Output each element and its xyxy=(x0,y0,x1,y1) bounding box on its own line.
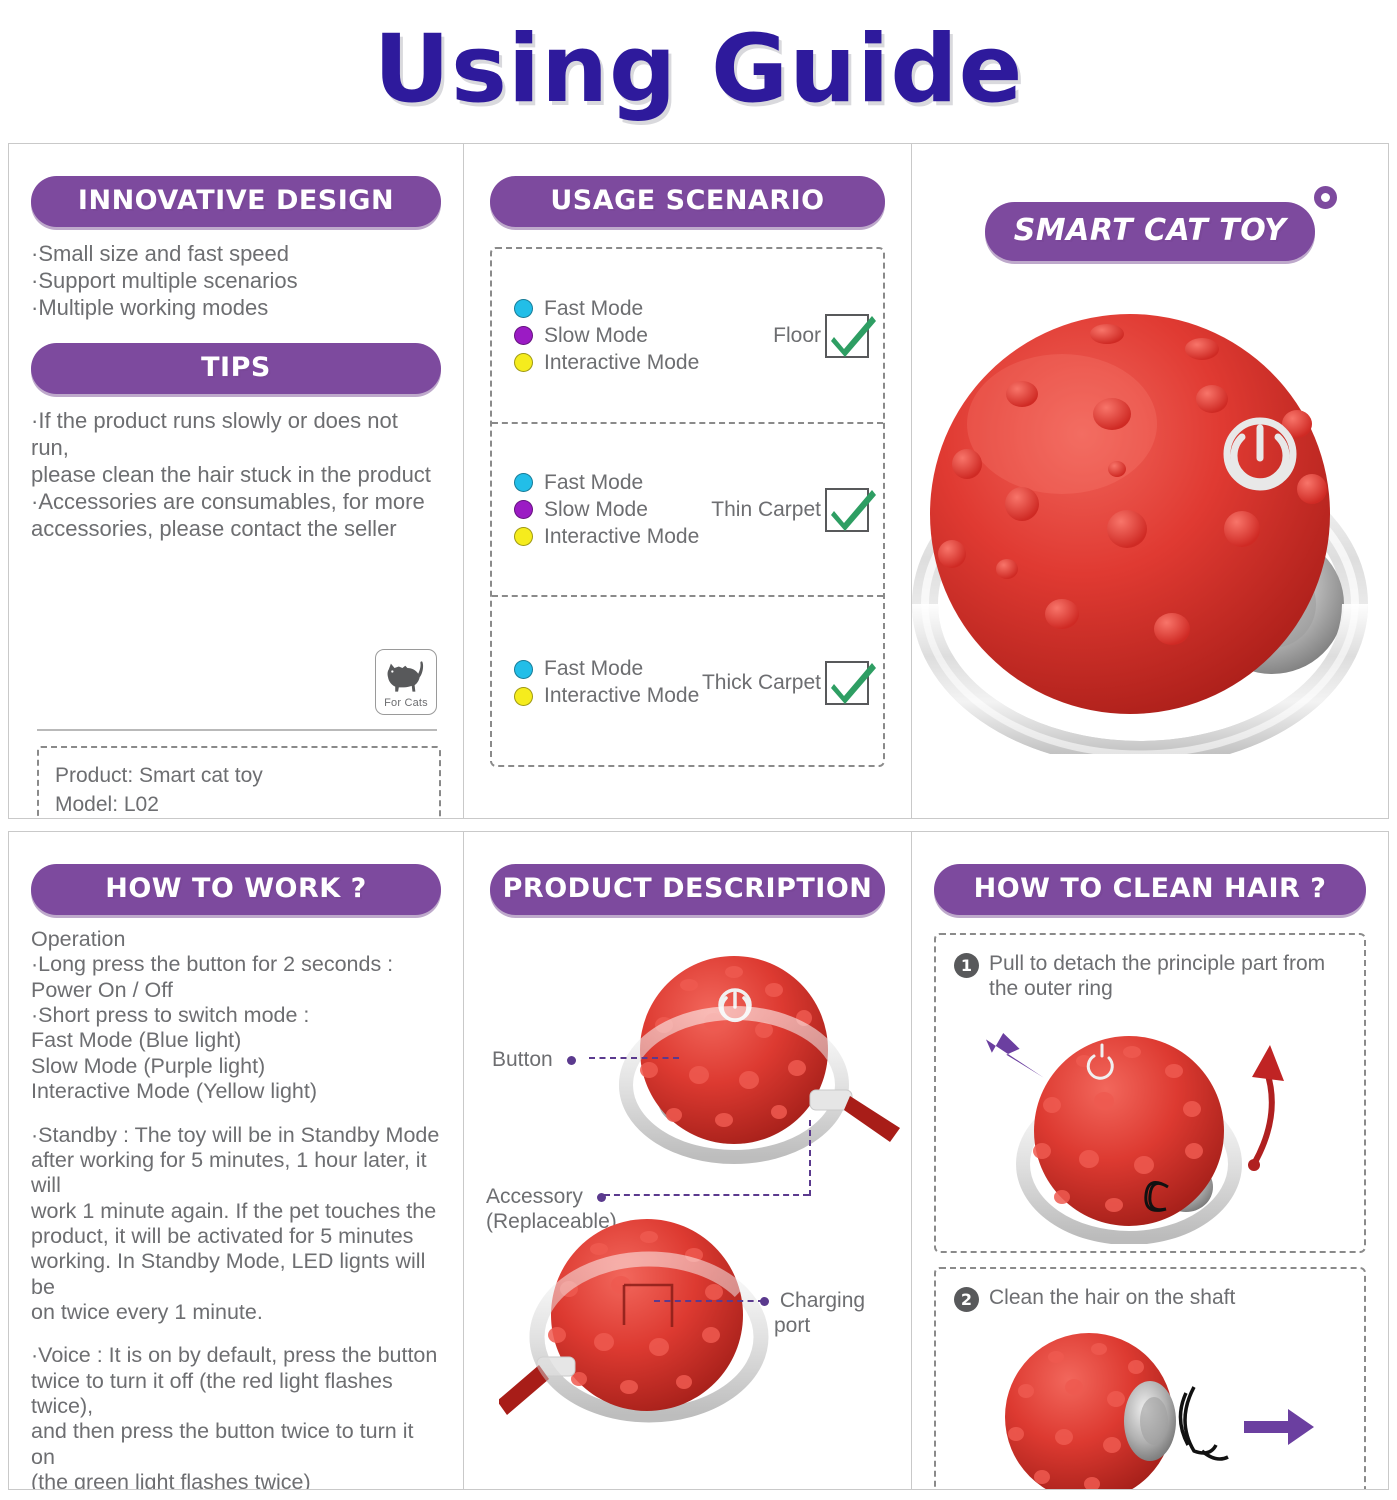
spec-box: Product: Smart cat toy Model: L02 Materi… xyxy=(37,746,441,818)
list-item: ·Short press to switch mode : xyxy=(31,1003,441,1028)
list-item: ·Multiple working modes xyxy=(31,295,441,322)
step-number: 2 xyxy=(954,1287,979,1312)
usage-scenario-heading: USAGE SCENARIO xyxy=(490,176,885,227)
leader-line xyxy=(589,1057,679,1059)
list-item: work 1 minute again. If the pet touches … xyxy=(31,1199,441,1224)
detach-illustration xyxy=(954,1019,1344,1244)
clean-step-2: 2 Clean the hair on the shaft xyxy=(934,1267,1366,1489)
how-to-clean-hair-heading: HOW TO CLEAN HAIR ? xyxy=(934,864,1366,915)
innovative-design-list: ·Small size and fast speed ·Support mult… xyxy=(31,241,441,321)
panel-innovative-design: INNOVATIVE DESIGN ·Small size and fast s… xyxy=(9,144,464,818)
step-header: 1 Pull to detach the principle part from… xyxy=(936,935,1364,1001)
interactive-mode-dot xyxy=(514,687,533,706)
brand-badge: SMART CAT TOY xyxy=(985,202,1315,261)
checkbox-thin-carpet[interactable] xyxy=(825,488,869,532)
leader-line xyxy=(809,1120,811,1196)
mode-item: Fast Mode xyxy=(514,656,699,683)
product-diagram-button-accessory xyxy=(614,950,912,1180)
step-text: Pull to detach the principle part from t… xyxy=(989,951,1346,1001)
callout-accessory-label: Accessory xyxy=(486,1185,583,1208)
list-item: on twice every 1 minute. xyxy=(31,1300,441,1325)
callout-charging-sub: port xyxy=(774,1314,810,1337)
purple-arrow-icon xyxy=(1244,1409,1314,1445)
mode-label: Fast Mode xyxy=(544,657,643,681)
panel-product-description: PRODUCT DESCRIPTION xyxy=(464,832,912,1489)
list-item: after working for 5 minutes, 1 hour late… xyxy=(31,1148,441,1199)
mode-label: Interactive Mode xyxy=(544,525,699,549)
callout-charging-label: Charging xyxy=(780,1289,865,1312)
list-item: ·Small size and fast speed xyxy=(31,241,441,268)
mode-item: Interactive Mode xyxy=(514,523,699,550)
panel-usage-scenario: USAGE SCENARIO Fast Mode Slow Mode xyxy=(464,144,912,818)
mode-list: Fast Mode Slow Mode Interactive Mode xyxy=(514,295,699,376)
surface-label: Floor xyxy=(773,324,821,348)
purple-arrow-icon xyxy=(985,1028,1043,1085)
interactive-mode-dot xyxy=(514,353,533,372)
check-icon xyxy=(824,307,880,363)
hero-product-image xyxy=(912,274,1388,818)
list-item: Fast Mode (Blue light) xyxy=(31,1028,441,1053)
list-item: and then press the button twice to turn … xyxy=(31,1419,441,1470)
degree-circle-icon xyxy=(1314,186,1337,209)
how-to-work-standby: ·Standby : The toy will be in Standby Mo… xyxy=(31,1123,441,1326)
callout-charging-port: Charging port xyxy=(760,1288,865,1338)
innovative-design-heading: INNOVATIVE DESIGN xyxy=(31,176,441,227)
mode-label: Slow Mode xyxy=(544,324,648,348)
slow-mode-dot xyxy=(514,500,533,519)
spec-model: Model: L02 xyxy=(55,791,423,818)
smart-cat-toy-ball-illustration xyxy=(912,274,1382,754)
mode-label: Interactive Mode xyxy=(544,351,699,375)
checkbox-floor[interactable] xyxy=(825,314,869,358)
list-item: product, it will be activated for 5 minu… xyxy=(31,1224,441,1249)
spec-product: Product: Smart cat toy xyxy=(55,762,423,791)
list-item: ·Standby : The toy will be in Standby Mo… xyxy=(31,1123,441,1148)
cat-icon xyxy=(383,658,429,698)
list-item: working. In Standby Mode, LED lignts wil… xyxy=(31,1249,441,1300)
surface-check: Thin Carpet xyxy=(711,488,869,532)
callout-button-label: Button xyxy=(492,1048,553,1071)
check-icon xyxy=(824,654,880,710)
list-item: twice to turn it off (the red light flas… xyxy=(31,1369,441,1420)
list-item: ·Voice : It is on by default, press the … xyxy=(31,1343,441,1368)
fast-mode-dot xyxy=(514,299,533,318)
interactive-mode-dot xyxy=(514,527,533,546)
callout-button: Button xyxy=(492,1047,576,1072)
mode-item: Fast Mode xyxy=(514,295,699,322)
mode-label: Interactive Mode xyxy=(544,684,699,708)
leader-line xyxy=(654,1300,764,1302)
mode-item: Slow Mode xyxy=(514,496,699,523)
product-diagram-charging-port xyxy=(499,1207,799,1457)
panel-how-to-work: HOW TO WORK ? Operation ·Long press the … xyxy=(9,832,464,1489)
brand-name: SMART CAT TOY xyxy=(985,202,1315,261)
surface-label: Thin Carpet xyxy=(711,498,821,522)
list-item: ·Accessories are consumables, for more xyxy=(31,489,441,516)
surface-check: Floor xyxy=(773,314,869,358)
list-item: (the green light flashes twice) xyxy=(31,1470,441,1489)
surface-check: Thick Carpet xyxy=(702,661,869,705)
fast-mode-dot xyxy=(514,473,533,492)
tips-heading: TIPS xyxy=(31,343,441,394)
checkbox-thick-carpet[interactable] xyxy=(825,661,869,705)
hair-strand xyxy=(1180,1387,1228,1459)
slow-mode-dot xyxy=(514,326,533,345)
mode-list: Fast Mode Slow Mode Interactive Mode xyxy=(514,469,699,550)
mode-item: Slow Mode xyxy=(514,322,699,349)
mode-label: Slow Mode xyxy=(544,498,648,522)
scenario-list: Fast Mode Slow Mode Interactive Mode Flo… xyxy=(490,247,885,767)
page-header: Using Guide xyxy=(0,0,1397,140)
mode-label: Fast Mode xyxy=(544,297,643,321)
list-item: ·Long press the button for 2 seconds : xyxy=(31,952,441,977)
row-spacer xyxy=(8,819,1389,831)
fast-mode-dot xyxy=(514,660,533,679)
mode-item: Interactive Mode xyxy=(514,683,699,710)
leader-dot xyxy=(760,1297,769,1306)
divider xyxy=(37,729,437,731)
top-row: INNOVATIVE DESIGN ·Small size and fast s… xyxy=(8,143,1389,819)
how-to-work-heading: HOW TO WORK ? xyxy=(31,864,441,915)
surface-label: Thick Carpet xyxy=(702,671,821,695)
panel-how-to-clean-hair: HOW TO CLEAN HAIR ? 1 Pull to detach the… xyxy=(912,832,1388,1489)
list-item: accessories, please contact the seller xyxy=(31,516,441,543)
list-item: please clean the hair stuck in the produ… xyxy=(31,462,441,489)
spec-lines: Product: Smart cat toy Model: L02 Materi… xyxy=(55,762,423,818)
clean-step-1: 1 Pull to detach the principle part from… xyxy=(934,933,1366,1253)
how-to-work-voice: ·Voice : It is on by default, press the … xyxy=(31,1343,441,1489)
list-item: Slow Mode (Purple light) xyxy=(31,1054,441,1079)
operation-label: Operation xyxy=(31,927,441,952)
step-number: 1 xyxy=(954,953,979,978)
scenario-row-thick-carpet: Fast Mode Interactive Mode Thick Carpet xyxy=(492,595,883,768)
step-header: 2 Clean the hair on the shaft xyxy=(936,1269,1364,1312)
spacer xyxy=(31,1325,441,1343)
list-item: ·If the product runs slowly or does not … xyxy=(31,408,441,462)
tips-list: ·If the product runs slowly or does not … xyxy=(31,408,441,542)
product-description-heading: PRODUCT DESCRIPTION xyxy=(490,864,885,915)
spacer xyxy=(31,1105,441,1123)
page-title: Using Guide xyxy=(374,23,1024,117)
list-item: ·Support multiple scenarios xyxy=(31,268,441,295)
step-text: Clean the hair on the shaft xyxy=(989,1285,1235,1310)
bottom-row: HOW TO WORK ? Operation ·Long press the … xyxy=(8,831,1389,1490)
scenario-row-thin-carpet: Fast Mode Slow Mode Interactive Mode Thi… xyxy=(492,422,883,595)
clean-shaft-illustration xyxy=(964,1329,1344,1489)
list-item: Power On / Off xyxy=(31,978,441,1003)
red-curved-arrow-icon xyxy=(1248,1045,1284,1171)
for-cats-badge: For Cats xyxy=(375,649,437,715)
how-to-work-operation: Operation ·Long press the button for 2 s… xyxy=(31,927,441,1105)
leader-dot xyxy=(567,1056,576,1065)
leader-line xyxy=(604,1194,809,1196)
panel-brand-hero: SMART CAT TOY xyxy=(912,144,1388,818)
scenario-row-floor: Fast Mode Slow Mode Interactive Mode Flo… xyxy=(492,249,883,422)
guide-grid: INNOVATIVE DESIGN ·Small size and fast s… xyxy=(8,143,1389,1492)
for-cats-label: For Cats xyxy=(384,698,428,712)
mode-list: Fast Mode Interactive Mode xyxy=(514,656,699,710)
list-item: Interactive Mode (Yellow light) xyxy=(31,1079,441,1104)
check-icon xyxy=(824,481,880,537)
mode-label: Fast Mode xyxy=(544,471,643,495)
mode-item: Interactive Mode xyxy=(514,349,699,376)
mode-item: Fast Mode xyxy=(514,469,699,496)
